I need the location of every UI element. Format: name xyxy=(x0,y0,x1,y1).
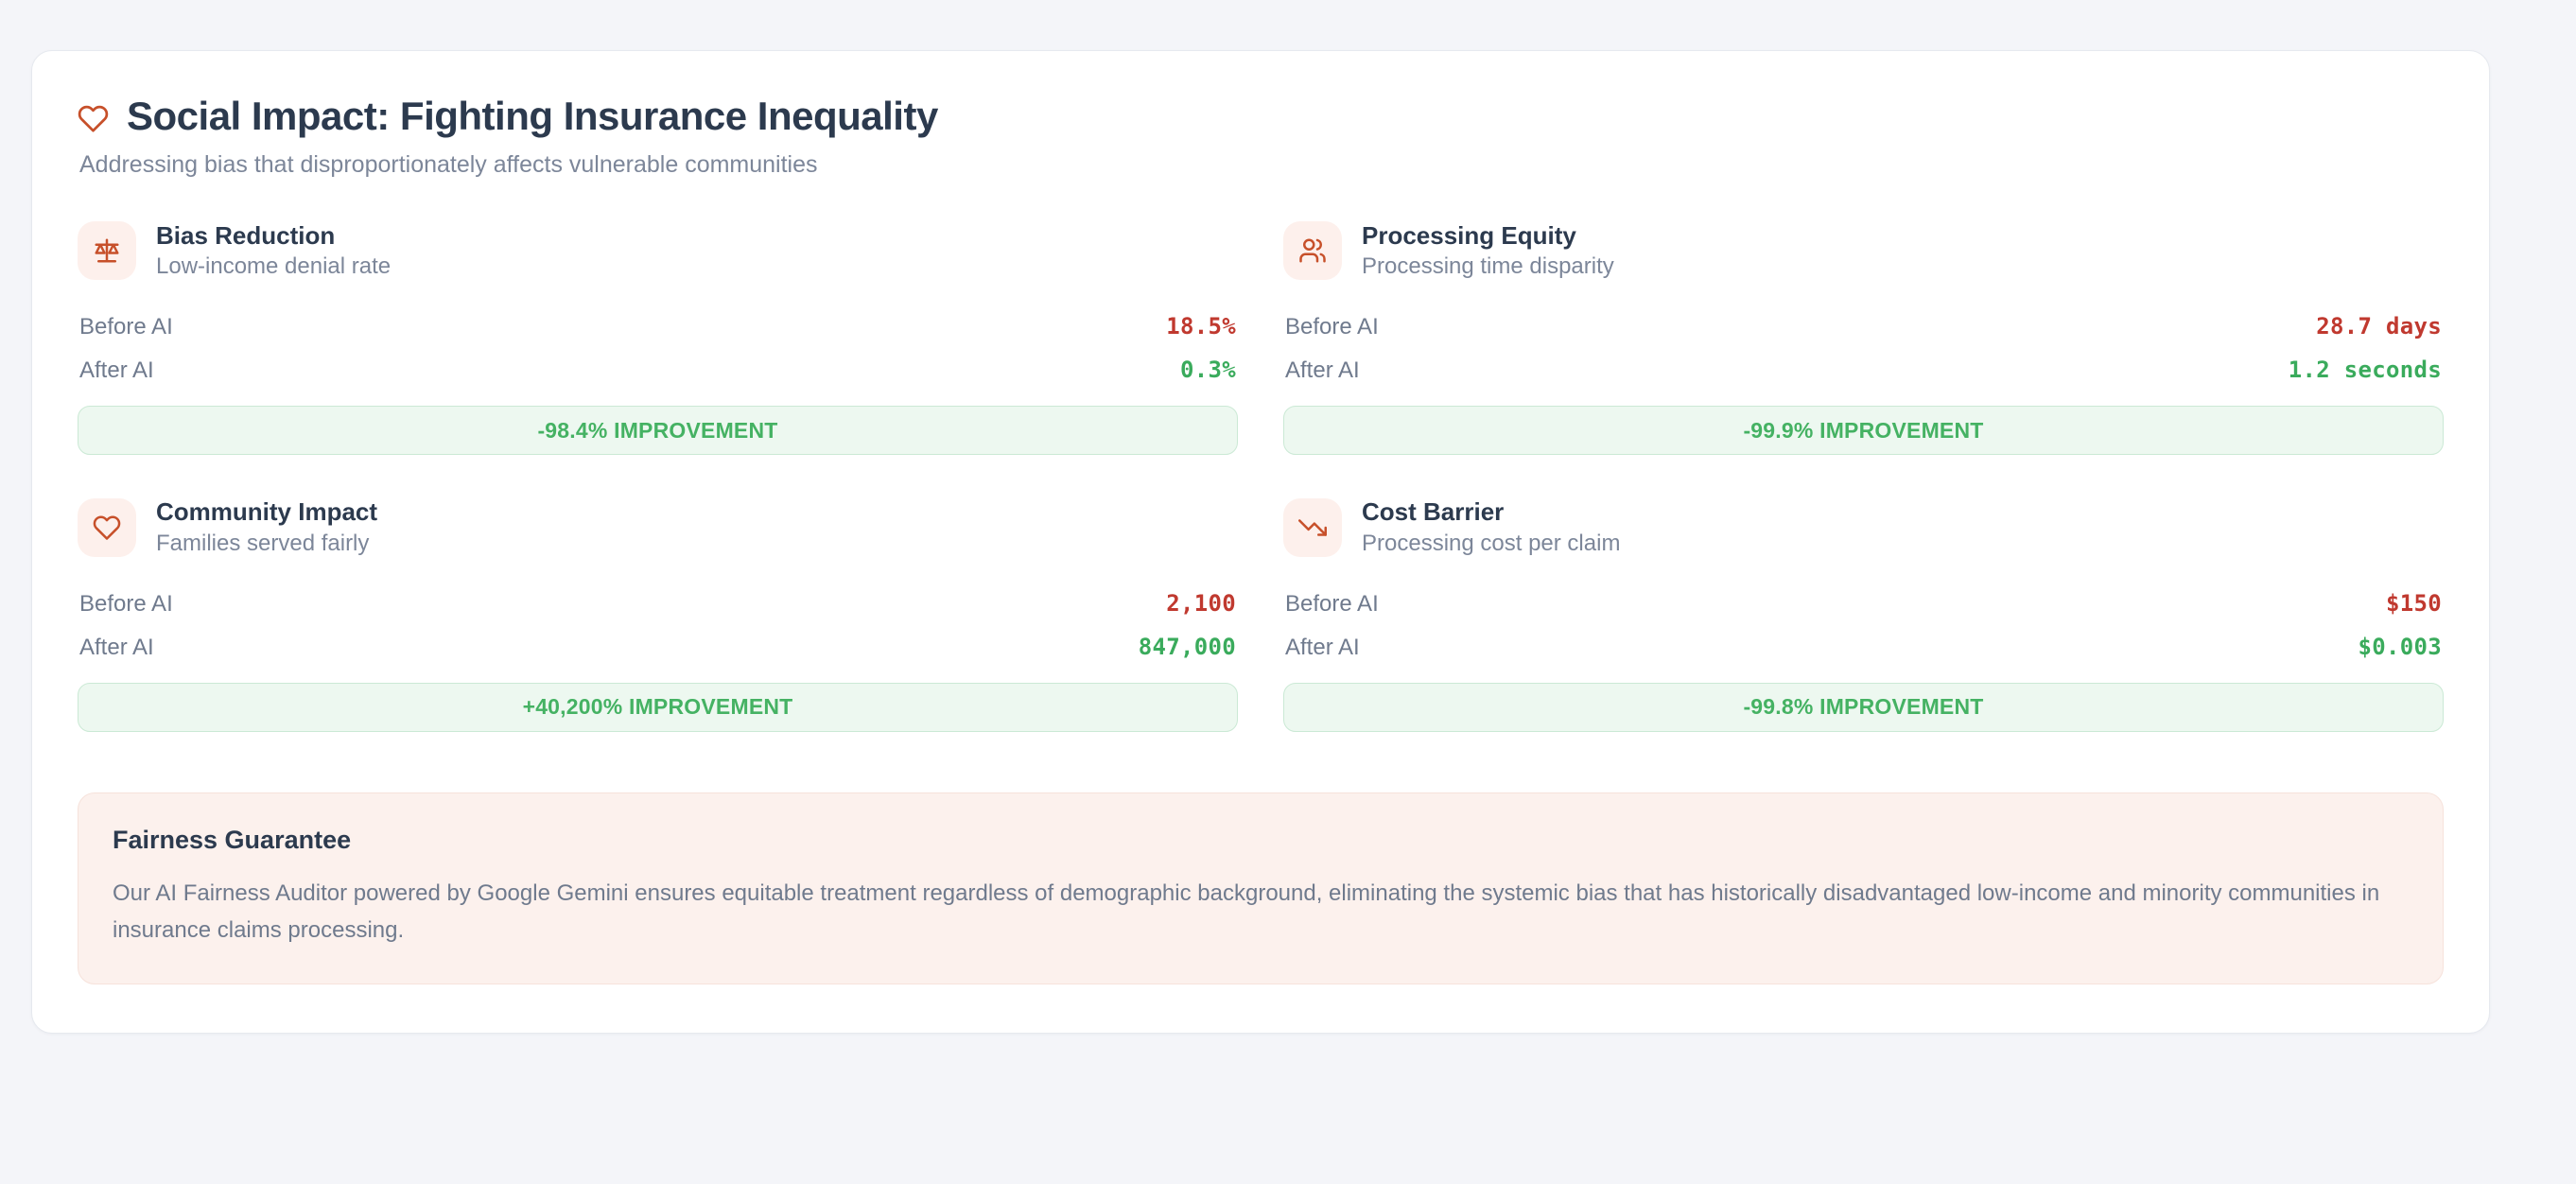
metric-label: Cost Barrier xyxy=(1362,496,1620,528)
metric-row-before: Before AI $150 xyxy=(1283,583,2444,626)
metrics-grid: Bias Reduction Low-income denial rate Be… xyxy=(78,220,2444,774)
before-label: Before AI xyxy=(1285,314,1379,340)
before-value: $150 xyxy=(2386,590,2442,617)
page-root: Social Impact: Fighting Insurance Inequa… xyxy=(0,0,2576,1184)
metric-sublabel: Low-income denial rate xyxy=(156,252,391,281)
trending-down-icon xyxy=(1298,514,1327,542)
metric-card-cost-barrier: Cost Barrier Processing cost per claim B… xyxy=(1283,496,2444,774)
metric-sublabel: Families served fairly xyxy=(156,530,377,558)
after-label: After AI xyxy=(79,357,154,384)
title-row: Social Impact: Fighting Insurance Inequa… xyxy=(78,95,2444,138)
after-label: After AI xyxy=(1285,635,1360,661)
metric-titles: Community Impact Families served fairly xyxy=(156,496,377,558)
users-icon xyxy=(1298,236,1327,265)
metric-icon-badge xyxy=(1283,498,1342,557)
metric-sublabel: Processing cost per claim xyxy=(1362,530,1620,558)
before-value: 28.7 days xyxy=(2316,313,2442,340)
metric-card-processing-equity: Processing Equity Processing time dispar… xyxy=(1283,220,2444,497)
scales-icon xyxy=(93,236,121,265)
metric-row-before: Before AI 18.5% xyxy=(78,305,1238,349)
before-label: Before AI xyxy=(1285,591,1379,618)
metric-label: Processing Equity xyxy=(1362,220,1614,252)
metric-header: Community Impact Families served fairly xyxy=(78,496,1238,558)
after-label: After AI xyxy=(79,635,154,661)
metric-icon-badge xyxy=(78,498,136,557)
metric-label: Bias Reduction xyxy=(156,220,391,252)
after-label: After AI xyxy=(1285,357,1360,384)
before-label: Before AI xyxy=(79,591,173,618)
after-value: 0.3% xyxy=(1180,357,1236,383)
metric-row-before: Before AI 2,100 xyxy=(78,583,1238,626)
page-subtitle: Addressing bias that disproportionately … xyxy=(78,149,2444,182)
improvement-badge: -99.9% IMPROVEMENT xyxy=(1283,406,2444,455)
fairness-guarantee-box: Fairness Guarantee Our AI Fairness Audit… xyxy=(78,792,2444,984)
metric-card-bias-reduction: Bias Reduction Low-income denial rate Be… xyxy=(78,220,1238,497)
heart-icon xyxy=(93,514,121,542)
after-value: 847,000 xyxy=(1139,634,1236,660)
improvement-badge: +40,200% IMPROVEMENT xyxy=(78,683,1238,732)
improvement-badge: -98.4% IMPROVEMENT xyxy=(78,406,1238,455)
metric-row-after: After AI $0.003 xyxy=(1283,626,2444,670)
metric-row-after: After AI 0.3% xyxy=(78,349,1238,392)
metric-titles: Bias Reduction Low-income denial rate xyxy=(156,220,391,282)
before-label: Before AI xyxy=(79,314,173,340)
before-value: 18.5% xyxy=(1166,313,1236,340)
before-value: 2,100 xyxy=(1166,590,1236,617)
metric-sublabel: Processing time disparity xyxy=(1362,252,1614,281)
panel-header: Social Impact: Fighting Insurance Inequa… xyxy=(78,95,2444,182)
metric-label: Community Impact xyxy=(156,496,377,528)
metric-titles: Processing Equity Processing time dispar… xyxy=(1362,220,1614,282)
metric-row-after: After AI 1.2 seconds xyxy=(1283,349,2444,392)
metric-header: Processing Equity Processing time dispar… xyxy=(1283,220,2444,282)
fairness-guarantee-title: Fairness Guarantee xyxy=(113,826,2409,855)
metric-card-community-impact: Community Impact Families served fairly … xyxy=(78,496,1238,774)
metric-row-after: After AI 847,000 xyxy=(78,626,1238,670)
fairness-guarantee-body: Our AI Fairness Auditor powered by Googl… xyxy=(113,876,2382,949)
metric-titles: Cost Barrier Processing cost per claim xyxy=(1362,496,1620,558)
metric-icon-badge xyxy=(78,221,136,280)
page-title: Social Impact: Fighting Insurance Inequa… xyxy=(127,95,938,138)
social-impact-panel: Social Impact: Fighting Insurance Inequa… xyxy=(31,50,2490,1034)
metric-icon-badge xyxy=(1283,221,1342,280)
after-value: $0.003 xyxy=(2358,634,2443,660)
heart-icon xyxy=(78,103,109,134)
improvement-badge: -99.8% IMPROVEMENT xyxy=(1283,683,2444,732)
after-value: 1.2 seconds xyxy=(2289,357,2442,383)
metric-header: Bias Reduction Low-income denial rate xyxy=(78,220,1238,282)
metric-row-before: Before AI 28.7 days xyxy=(1283,305,2444,349)
metric-header: Cost Barrier Processing cost per claim xyxy=(1283,496,2444,558)
